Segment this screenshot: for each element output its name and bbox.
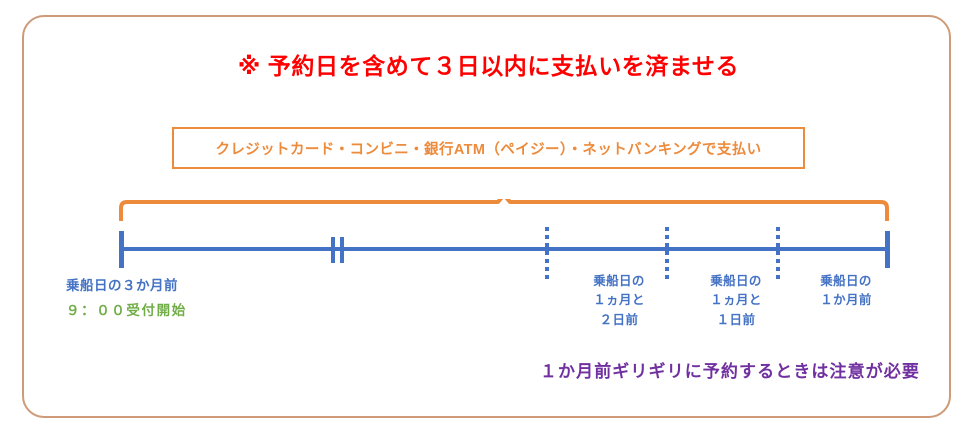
marker-2-line2: １ヵ月と xyxy=(681,291,791,310)
timeline-marker-1 xyxy=(545,227,549,279)
marker-2-line3: １日前 xyxy=(681,311,791,330)
timeline-marker-1-label: 乗船日の １ヵ月と ２日前 xyxy=(564,272,674,330)
marker-1-line1: 乗船日の xyxy=(564,272,674,291)
diagram-canvas: ※ 予約日を含めて３日以内に支払いを済ませる クレジットカード・コンビニ・銀行A… xyxy=(0,0,977,436)
footer-warning-note: １か月前ギリギリに予約するときは注意が必要 xyxy=(0,357,920,382)
axis-break-icon xyxy=(331,237,335,263)
timeline-start-label-line1: 乗船日の３か月前 xyxy=(66,276,178,297)
timeline-end-cap xyxy=(885,231,890,268)
marker-3-line1: 乗船日の xyxy=(791,272,901,291)
timeline-start-cap xyxy=(119,231,124,268)
timeline-marker-2-label: 乗船日の １ヵ月と １日前 xyxy=(681,272,791,330)
page-title: ※ 予約日を含めて３日以内に支払いを済ませる xyxy=(0,47,977,81)
orange-brace xyxy=(118,199,890,221)
timeline-axis xyxy=(120,247,888,251)
timeline-marker-3-label: 乗船日の １か月前 xyxy=(791,272,901,311)
axis-break-icon-second xyxy=(340,237,344,263)
payment-methods-label: クレジットカード・コンビニ・銀行ATM（ペイジー）・ネットバンキングで支払い xyxy=(215,138,761,159)
marker-1-line3: ２日前 xyxy=(564,311,674,330)
marker-2-line1: 乗船日の xyxy=(681,272,791,291)
timeline-start-label-line2: ９：００受付開始 xyxy=(66,301,187,322)
marker-1-line2: １ヵ月と xyxy=(564,291,674,310)
payment-methods-box: クレジットカード・コンビニ・銀行ATM（ペイジー）・ネットバンキングで支払い xyxy=(172,127,805,169)
marker-3-line2: １か月前 xyxy=(791,291,901,310)
